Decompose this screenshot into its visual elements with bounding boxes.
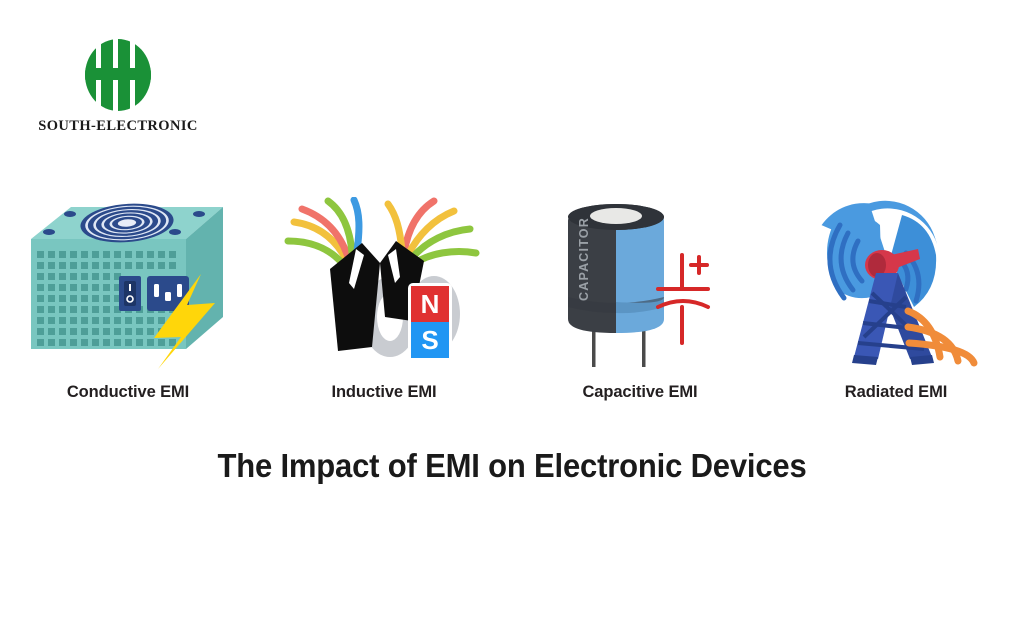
- capacitor-body-text: CAPACITOR: [577, 217, 591, 301]
- emi-type-row: Conductive EMI: [0, 186, 1024, 402]
- emi-item-conductive: Conductive EMI: [13, 193, 243, 402]
- page-title: The Impact of EMI on Electronic Devices: [31, 447, 994, 485]
- brand-logo-block: SOUTH-ELECTRONIC: [28, 38, 208, 135]
- capacitor-top-vent: [590, 208, 642, 224]
- electrolytic-capacitor-icon: CAPACITOR: [550, 197, 730, 369]
- conductive-emi-art: [23, 193, 233, 369]
- inductive-emi-art: N S: [284, 193, 484, 369]
- emi-item-radiated: Radiated EMI: [781, 193, 1011, 402]
- capacitor-schematic-symbol: [658, 255, 708, 343]
- radio-tower-antenna-icon: [806, 197, 986, 369]
- wire-strands: [288, 200, 476, 264]
- psu-power-switch-icon: [119, 276, 141, 311]
- emi-label-conductive: Conductive EMI: [67, 383, 189, 402]
- cable-bundle-magnet-icon: N S: [284, 197, 484, 369]
- south-electronic-h-logo-icon: [70, 38, 166, 112]
- bar-magnet-icon: N S: [408, 283, 452, 361]
- emi-item-capacitive: CAPACITOR Capacitive EMI: [525, 193, 755, 402]
- magnet-pole-south: S: [421, 325, 438, 355]
- emi-label-capacitive: Capacitive EMI: [582, 383, 697, 402]
- emi-label-radiated: Radiated EMI: [845, 383, 947, 402]
- emi-item-inductive: N S Inductive EMI: [269, 193, 499, 402]
- magnet-pole-north: N: [421, 289, 440, 319]
- radiated-emi-art: [806, 193, 986, 369]
- capacitive-emi-art: CAPACITOR: [550, 193, 730, 369]
- power-supply-unit-icon: [23, 197, 233, 369]
- brand-name: SOUTH-ELECTRONIC: [28, 118, 208, 135]
- emi-label-inductive: Inductive EMI: [331, 383, 436, 402]
